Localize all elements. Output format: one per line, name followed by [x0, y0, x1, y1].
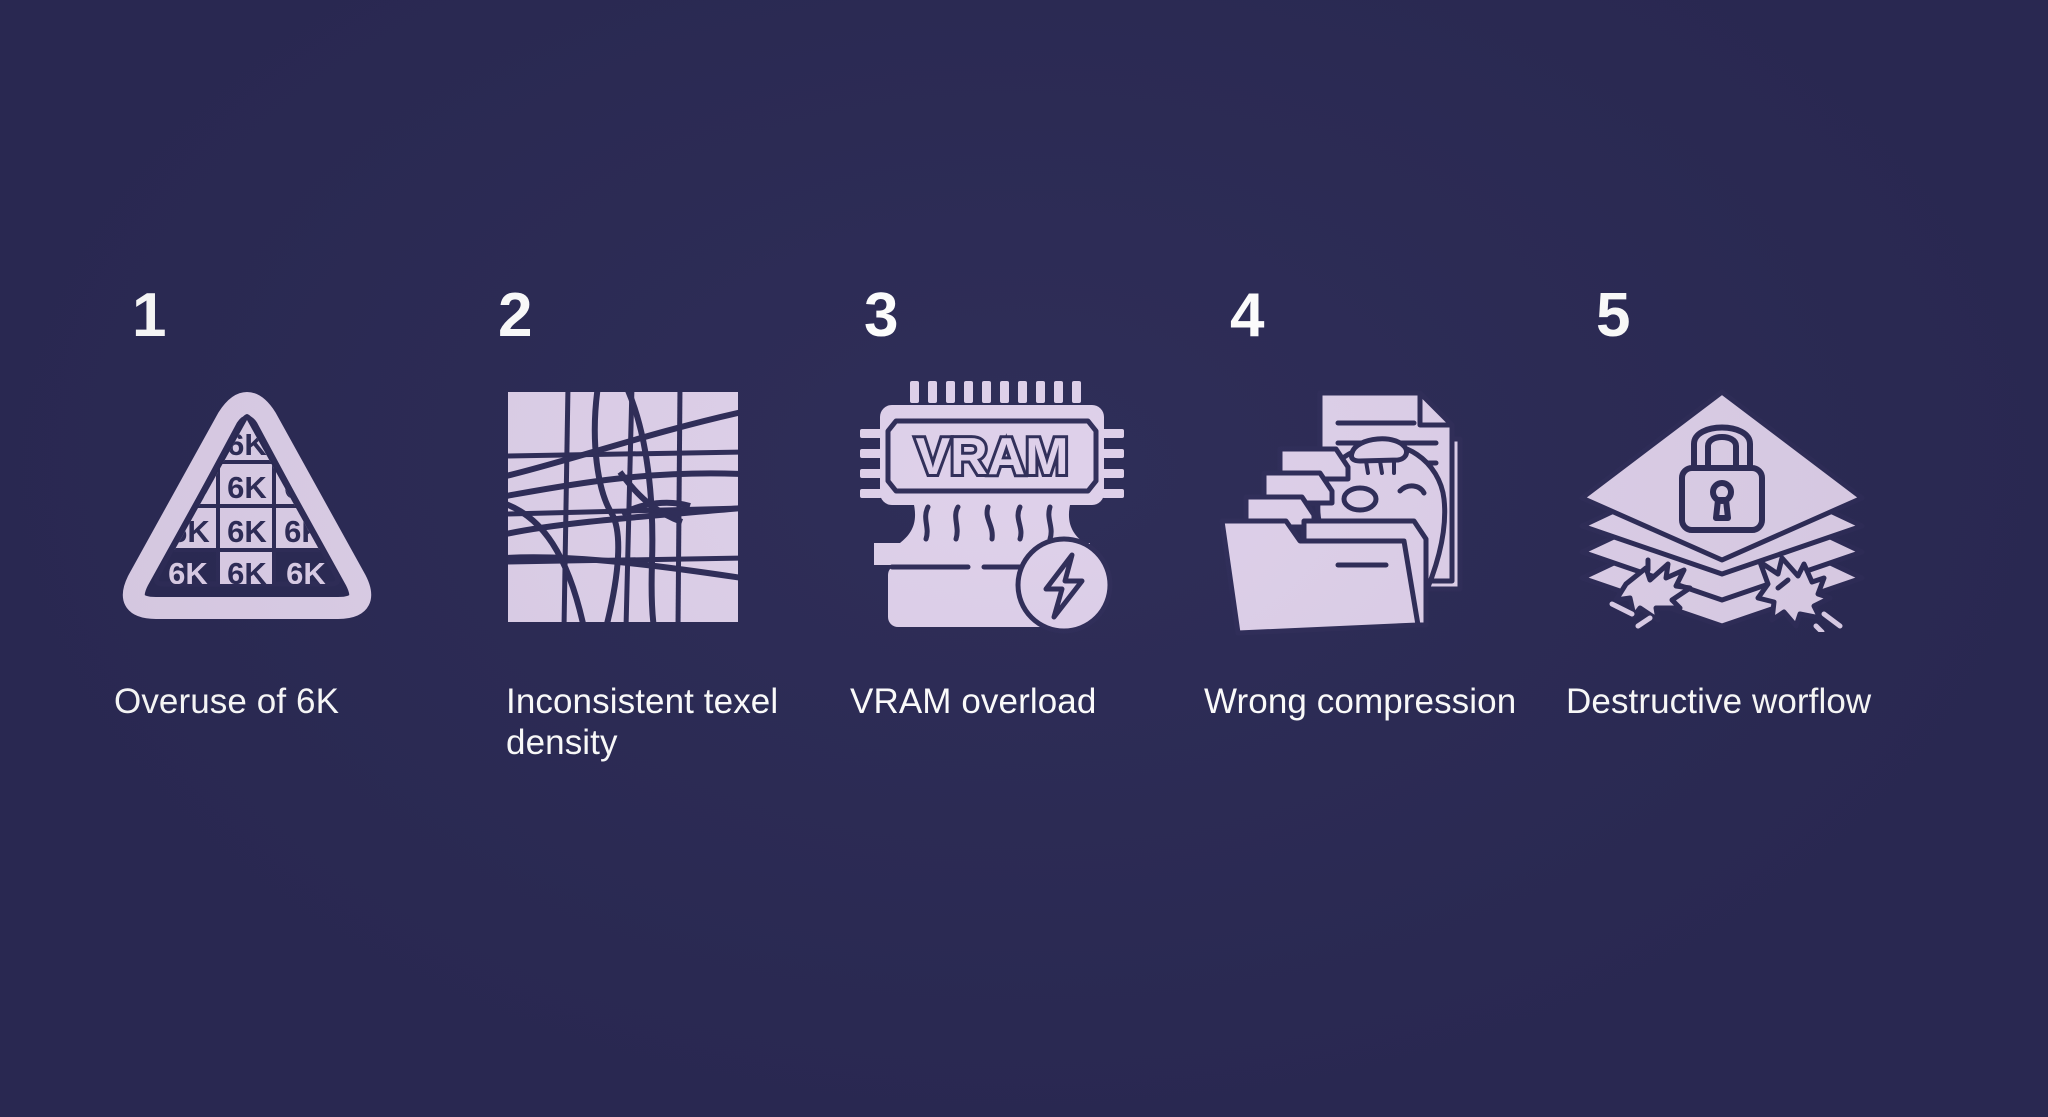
warning-triangle-6k-grid-icon: 6K 6K 6K 6K 6K 6K 6K 6K 6K 6K — [122, 371, 422, 643]
step-card-3: 3 — [862, 285, 1228, 722]
steps-row: 1 — [130, 285, 1960, 764]
step-caption-2: Inconsistent texel density — [506, 681, 836, 764]
step-caption-1: Overuse of 6K — [114, 681, 339, 722]
warped-grid-square-icon — [502, 371, 802, 643]
step-number-4: 4 — [1230, 285, 1263, 349]
step-caption-5: Destructive worflow — [1566, 681, 1871, 722]
step-card-1: 1 — [130, 285, 496, 722]
folders-squeezed-blob-icon — [1208, 371, 1508, 643]
svg-text:6K: 6K — [227, 514, 267, 549]
step-card-2: 2 — [496, 285, 862, 764]
step-card-5: 5 — [1594, 285, 1960, 722]
vram-chip-overload-icon: VRAM — [852, 371, 1152, 643]
step-card-4: 4 — [1228, 285, 1594, 722]
step-caption-4: Wrong compression — [1204, 681, 1516, 722]
step-number-5: 5 — [1596, 285, 1629, 349]
svg-text:6K: 6K — [227, 470, 267, 505]
vram-chip-label: VRAM — [915, 428, 1068, 486]
step-number-3: 3 — [864, 285, 897, 349]
step-number-2: 2 — [498, 285, 531, 349]
step-number-1: 1 — [132, 285, 165, 349]
locked-cracked-layers-icon — [1572, 371, 1872, 643]
step-caption-3: VRAM overload — [850, 681, 1096, 722]
infographic-canvas: 1 — [0, 0, 2048, 1117]
